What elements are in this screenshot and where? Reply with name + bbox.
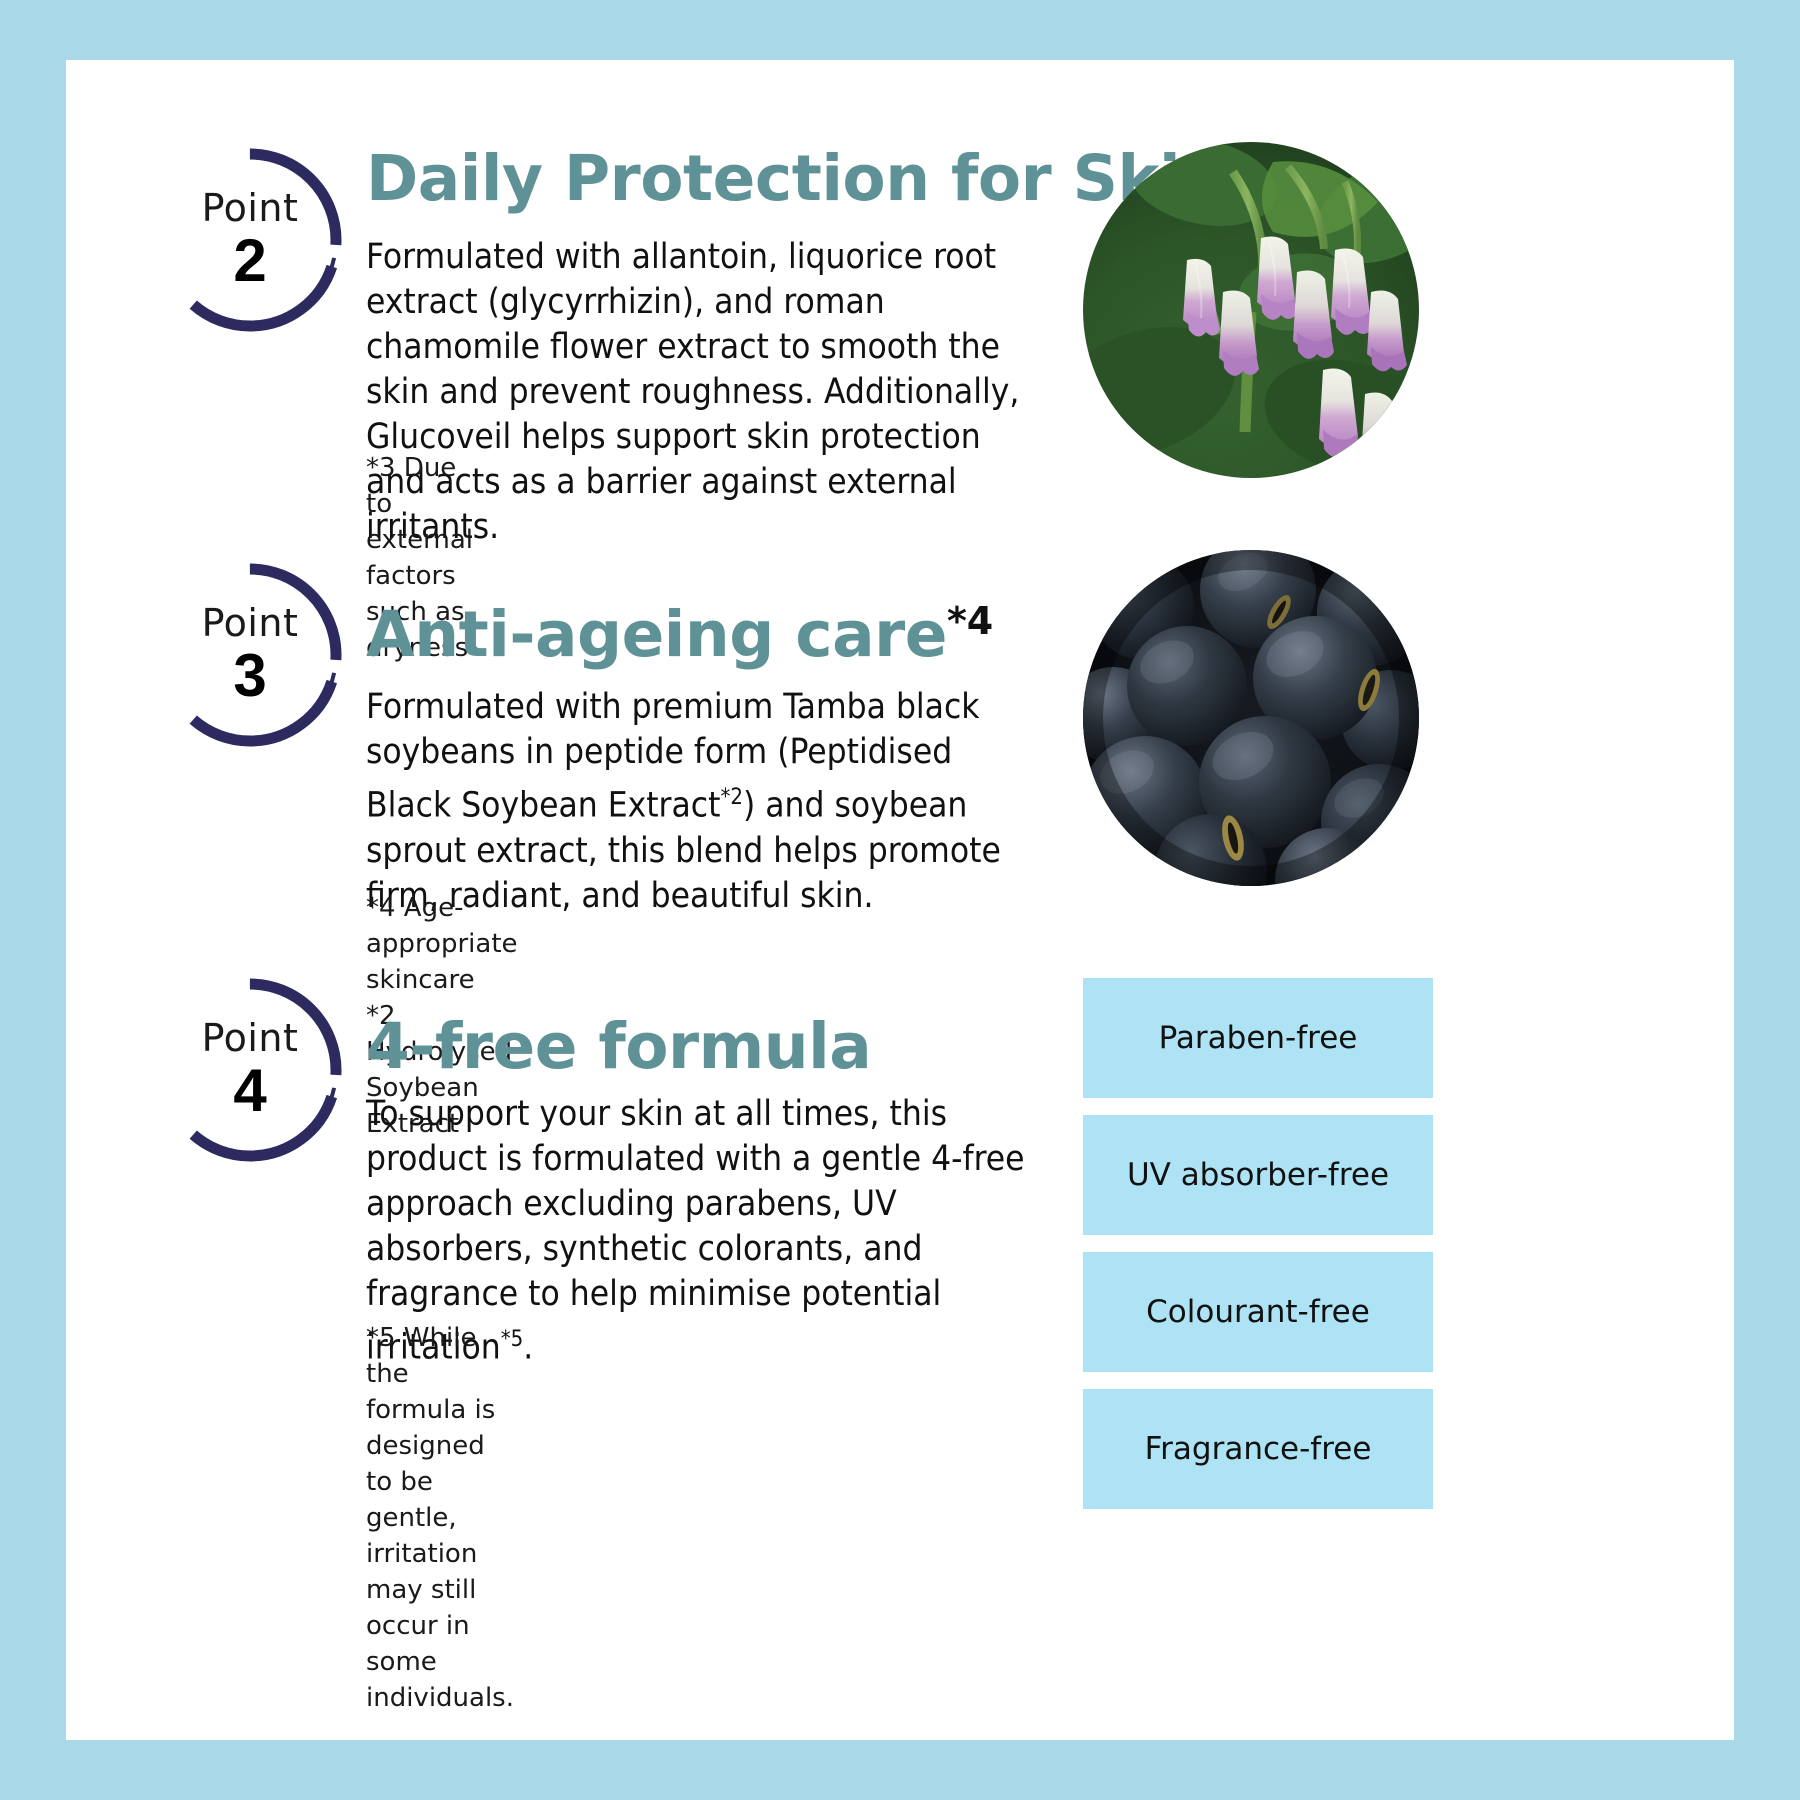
badge-text-group: Point 4: [150, 970, 350, 1170]
point-heading-2: Daily Protection for Skin: [366, 142, 1224, 215]
badge-word: Point: [202, 189, 299, 227]
body-superscript: *2: [720, 785, 742, 810]
point-heading-3: Anti-ageing care*4: [366, 598, 993, 671]
badge-text-group: Point 3: [150, 555, 350, 755]
point-badge-3: Point 3: [150, 555, 350, 755]
body-text-post: .: [523, 1328, 533, 1368]
black-soybeans-photo: [1083, 550, 1419, 886]
claim-label: Paraben-free: [1159, 1020, 1358, 1056]
heading-text: Anti-ageing care: [366, 598, 947, 671]
point-body-3: Formulated with premium Tamba black soyb…: [366, 685, 1016, 919]
badge-number: 4: [233, 1061, 266, 1121]
claim-label: Colourant-free: [1146, 1294, 1370, 1330]
comfrey-flowers-photo: [1083, 142, 1419, 478]
badge-number: 3: [233, 646, 266, 706]
badge-word: Point: [202, 1019, 299, 1057]
point-heading-4: 4-free formula: [366, 1010, 871, 1083]
claim-label: UV absorber-free: [1127, 1157, 1389, 1193]
claim-box-paraben-free[interactable]: Paraben-free: [1083, 978, 1433, 1098]
claim-box-fragrance-free[interactable]: Fragrance-free: [1083, 1389, 1433, 1509]
badge-text-group: Point 2: [150, 140, 350, 340]
claim-box-uv-absorber-free[interactable]: UV absorber-free: [1083, 1115, 1433, 1235]
point-badge-2: Point 2: [150, 140, 350, 340]
point-badge-4: Point 4: [150, 970, 350, 1170]
claim-box-colourant-free[interactable]: Colourant-free: [1083, 1252, 1433, 1372]
claim-label: Fragrance-free: [1145, 1431, 1372, 1467]
point-footnote-4: *5 While the formula is designed to be g…: [366, 1320, 514, 1716]
heading-text: Daily Protection for Skin: [366, 142, 1224, 215]
badge-number: 2: [233, 231, 266, 291]
free-claims-list: Paraben-free UV absorber-free Colourant-…: [1083, 978, 1433, 1509]
heading-superscript: *4: [947, 599, 993, 643]
badge-word: Point: [202, 604, 299, 642]
infographic-page: Point 2 Daily Protection for Skin Formul…: [66, 60, 1734, 1740]
heading-text: 4-free formula: [366, 1010, 871, 1083]
